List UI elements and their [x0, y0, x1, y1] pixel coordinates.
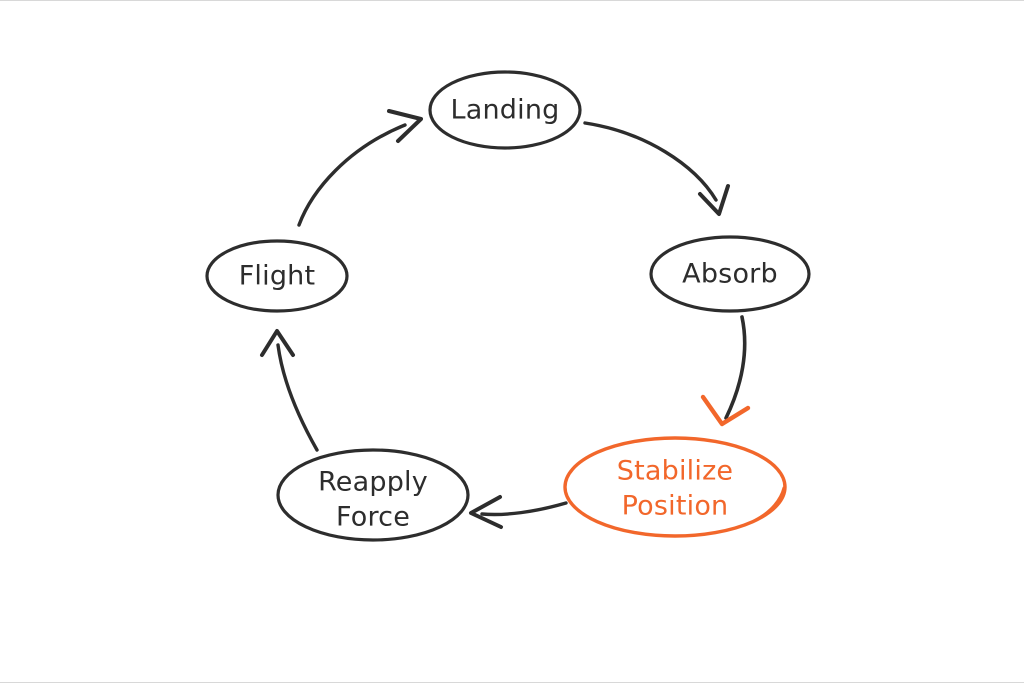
node-absorb-label: Absorb — [682, 259, 778, 290]
edge-absorb-to-stabilize-position — [703, 317, 748, 424]
node-stabilize-position-label-line-1: Stabilize — [617, 456, 734, 487]
edge-reapply-force-to-flight — [262, 331, 317, 450]
edge-landing-to-absorb-arrowhead — [700, 186, 728, 214]
diagram-canvas: Landing Absorb Stabilize Position Reappl… — [0, 0, 1024, 683]
edge-flight-to-landing — [299, 111, 421, 225]
node-flight-label: Flight — [239, 261, 316, 292]
edge-absorb-to-stabilize-position-stem — [726, 317, 745, 418]
node-reapply-force-label-line-2: Force — [336, 502, 410, 533]
node-reapply-force[interactable]: Reapply Force — [278, 450, 468, 540]
edge-flight-to-landing-stem — [299, 125, 405, 225]
node-stabilize-position[interactable]: Stabilize Position — [565, 438, 785, 536]
edge-stabilize-position-to-reapply-force-stem — [482, 503, 566, 515]
node-stabilize-position-label-line-2: Position — [622, 491, 729, 522]
edge-stabilize-position-to-reapply-force-arrowhead — [471, 497, 501, 527]
node-reapply-force-label-line-1: Reapply — [318, 467, 428, 498]
edge-absorb-to-stabilize-position-arrowhead — [703, 397, 748, 424]
node-landing-label: Landing — [451, 95, 560, 126]
edge-landing-to-absorb-stem — [585, 123, 716, 200]
node-flight[interactable]: Flight — [207, 241, 347, 311]
top-border-rule — [0, 0, 1024, 1]
cycle-diagram: Landing Absorb Stabilize Position Reappl… — [0, 0, 1024, 683]
edge-stabilize-position-to-reapply-force — [471, 497, 566, 527]
edge-landing-to-absorb — [585, 123, 728, 214]
node-absorb[interactable]: Absorb — [651, 237, 809, 311]
edge-reapply-force-to-flight-stem — [278, 345, 317, 450]
node-landing[interactable]: Landing — [430, 72, 580, 148]
